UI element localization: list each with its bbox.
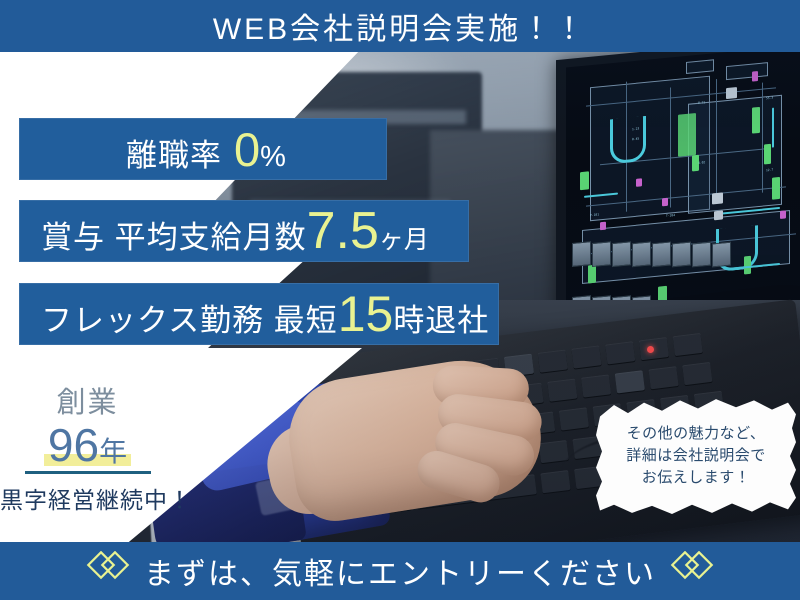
founding-years-block: 創業 96年 黒字経営継続中！ [0,388,175,515]
bottom-cta-bar[interactable]: まずは、気軽にエントリーください [0,542,800,600]
founding-underline-rule [25,471,151,474]
feature-value-turnover-rate: 0 [234,126,260,173]
founding-years-number: 96 [48,419,99,471]
feature-label-turnover-rate: 離職率 [126,140,222,171]
feature-value-bonus-months: 7.5 [307,205,379,257]
feature-unit-bonus-months: ヶ月 [379,228,429,253]
note-line-1: その他の魅力など、 [627,423,766,445]
top-headline-bar: WEB会社説明会実施！！ [0,0,800,52]
recruitment-banner: 1.23 0.45 8.21 4.02 55.3 12.7 P-101 T-20… [0,0,800,600]
feature-bar-flex-time: フレックス勤務 最短 15 時退社 [19,283,499,345]
feature-label-flex-time: フレックス勤務 最短 [41,305,338,336]
founding-years-suffix: 年 [99,436,127,467]
founding-years-group: 96年 [42,422,133,470]
feature-value-flex-time: 15 [338,289,394,339]
torn-paper-note: その他の魅力など、 詳細は会社説明会で お伝えします！ [596,398,796,514]
double-diamond-icon-right [670,551,714,592]
note-line-3: お伝えします！ [642,467,751,489]
founding-label: 創業 [0,388,175,420]
headline-text: WEB会社説明会実施！！ [213,4,587,48]
cta-text: まずは、気軽にエントリーください [144,549,656,593]
feature-bar-turnover-rate: 離職率 0 % [19,118,387,180]
double-diamond-icon-left [86,551,130,592]
founding-subtitle: 黒字経営継続中！ [0,481,175,515]
note-line-2: 詳細は会社説明会で [626,445,766,467]
feature-label-bonus-months: 賞与 平均支給月数 [41,222,307,253]
feature-bar-bonus-months: 賞与 平均支給月数 7.5 ヶ月 [19,200,469,262]
note-text-block: その他の魅力など、 詳細は会社説明会で お伝えします！ [596,398,796,514]
feature-unit-flex-time: 時退社 [393,305,489,336]
feature-unit-turnover-rate: % [260,143,286,172]
